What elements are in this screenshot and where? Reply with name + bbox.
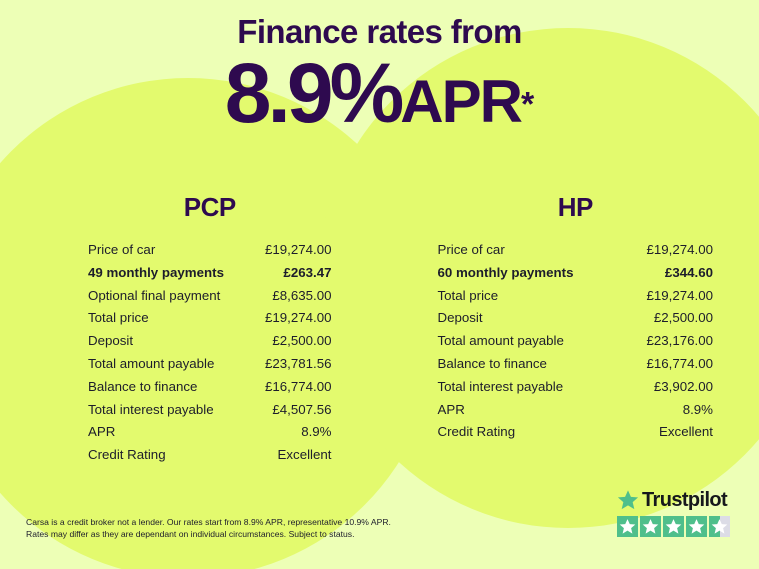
row-label: Balance to finance [438, 353, 547, 376]
plan-card-hp: HP Price of car £19,274.00 60 monthly pa… [380, 192, 759, 467]
table-row: Deposit £2,500.00 [438, 307, 714, 330]
star-icon-1 [617, 516, 638, 537]
table-row: Price of car £19,274.00 [438, 239, 714, 262]
table-row: 60 monthly payments £344.60 [438, 262, 714, 285]
headline-asterisk: * [521, 86, 534, 124]
row-value: £16,774.00 [646, 353, 713, 376]
row-label: Balance to finance [88, 376, 197, 399]
row-label: 60 monthly payments [438, 262, 574, 285]
table-row: Deposit £2,500.00 [88, 330, 332, 353]
table-row: Balance to finance £16,774.00 [438, 353, 714, 376]
row-label: Total amount payable [438, 330, 564, 353]
disclaimer-line-2: Rates may differ as they are dependant o… [26, 528, 426, 540]
table-row: APR 8.9% [88, 421, 332, 444]
row-label: APR [88, 421, 115, 444]
row-value: £19,274.00 [646, 239, 713, 262]
table-row: Total amount payable £23,176.00 [438, 330, 714, 353]
row-value: £263.47 [283, 262, 331, 285]
row-value: 8.9% [301, 421, 331, 444]
table-row: Total amount payable £23,781.56 [88, 353, 332, 376]
table-row: Optional final payment £8,635.00 [88, 285, 332, 308]
row-label: 49 monthly payments [88, 262, 224, 285]
trustpilot-badge[interactable]: Trustpilot [617, 488, 737, 537]
row-label: Total amount payable [88, 353, 214, 376]
headline-rate-value: 8.9% [225, 46, 400, 140]
row-label: Optional final payment [88, 285, 220, 308]
plan-card-pcp: PCP Price of car £19,274.00 49 monthly p… [0, 192, 380, 467]
legal-disclaimer: Carsa is a credit broker not a lender. O… [26, 516, 426, 541]
star-icon-3 [663, 516, 684, 537]
star-icon-4 [686, 516, 707, 537]
row-label: APR [438, 399, 465, 422]
trustpilot-star-icon [617, 489, 639, 511]
row-label: Total interest payable [438, 376, 564, 399]
table-row: Total price £19,274.00 [88, 307, 332, 330]
row-value: £2,500.00 [272, 330, 331, 353]
plan-title-hp: HP [438, 192, 714, 223]
trustpilot-rating-stars [617, 516, 737, 537]
star-icon-2 [640, 516, 661, 537]
row-value: £8,635.00 [272, 285, 331, 308]
row-value: £16,774.00 [265, 376, 332, 399]
headline-block: Finance rates from 8.9%APR* [0, 14, 759, 134]
headline-rate-line: 8.9%APR* [0, 54, 759, 134]
table-row: 49 monthly payments £263.47 [88, 262, 332, 285]
row-value: £19,274.00 [265, 307, 332, 330]
row-value: £19,274.00 [646, 285, 713, 308]
row-value: £2,500.00 [654, 307, 713, 330]
table-row: Total price £19,274.00 [438, 285, 714, 308]
table-row: APR 8.9% [438, 399, 714, 422]
row-label: Total interest payable [88, 399, 214, 422]
trustpilot-wordmark: Trustpilot [642, 490, 727, 510]
row-value: Excellent [278, 444, 332, 467]
plan-comparison: PCP Price of car £19,274.00 49 monthly p… [0, 192, 759, 467]
row-value: Excellent [659, 421, 713, 444]
table-row: Balance to finance £16,774.00 [88, 376, 332, 399]
row-value: £3,902.00 [654, 376, 713, 399]
row-value: £344.60 [665, 262, 713, 285]
trustpilot-logo: Trustpilot [617, 488, 737, 512]
table-row: Credit Rating Excellent [88, 444, 332, 467]
row-label: Credit Rating [438, 421, 516, 444]
table-row: Price of car £19,274.00 [88, 239, 332, 262]
row-label: Deposit [438, 307, 483, 330]
promo-banner: Finance rates from 8.9%APR* PCP Price of… [0, 0, 759, 569]
row-value: £19,274.00 [265, 239, 332, 262]
headline-rate-unit: APR [400, 68, 521, 135]
star-icon-5-half [709, 516, 730, 537]
disclaimer-line-1: Carsa is a credit broker not a lender. O… [26, 516, 426, 528]
plan-title-pcp: PCP [88, 192, 332, 223]
row-value: 8.9% [683, 399, 713, 422]
row-label: Total price [438, 285, 499, 308]
row-label: Price of car [88, 239, 155, 262]
row-label: Total price [88, 307, 149, 330]
table-row: Total interest payable £4,507.56 [88, 399, 332, 422]
table-row: Total interest payable £3,902.00 [438, 376, 714, 399]
row-label: Deposit [88, 330, 133, 353]
row-value: £23,781.56 [265, 353, 332, 376]
row-label: Credit Rating [88, 444, 166, 467]
headline-top-line: Finance rates from [0, 14, 759, 50]
row-value: £4,507.56 [272, 399, 331, 422]
row-value: £23,176.00 [646, 330, 713, 353]
row-label: Price of car [438, 239, 505, 262]
table-row: Credit Rating Excellent [438, 421, 714, 444]
